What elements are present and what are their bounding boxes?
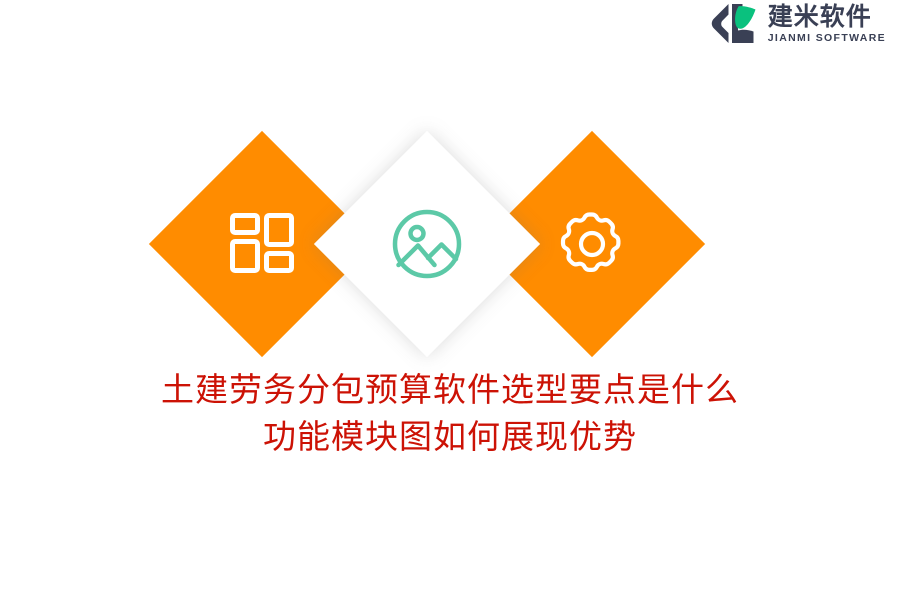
page-title: 土建劳务分包预算软件选型要点是什么 功能模块图如何展现优势	[0, 366, 900, 460]
brand-logo: 建米软件 JIANMI SOFTWARE	[708, 0, 886, 48]
brand-name-en: JIANMI SOFTWARE	[768, 33, 886, 44]
image-diamond-icon-wrap	[347, 164, 507, 324]
page-title-line-2: 功能模块图如何展现优势	[0, 413, 900, 460]
page-title-line-1: 土建劳务分包预算软件选型要点是什么	[0, 366, 900, 413]
brand-text: 建米软件 JIANMI SOFTWARE	[768, 4, 886, 44]
feature-diamond-row	[0, 131, 900, 357]
brand-name-cn: 建米软件	[768, 4, 886, 29]
grid-modules-icon	[229, 211, 295, 277]
image-placeholder-icon	[390, 207, 464, 281]
image-diamond	[314, 131, 540, 357]
gear-settings-icon	[557, 209, 627, 279]
jianmi-logo-mark	[708, 2, 760, 46]
